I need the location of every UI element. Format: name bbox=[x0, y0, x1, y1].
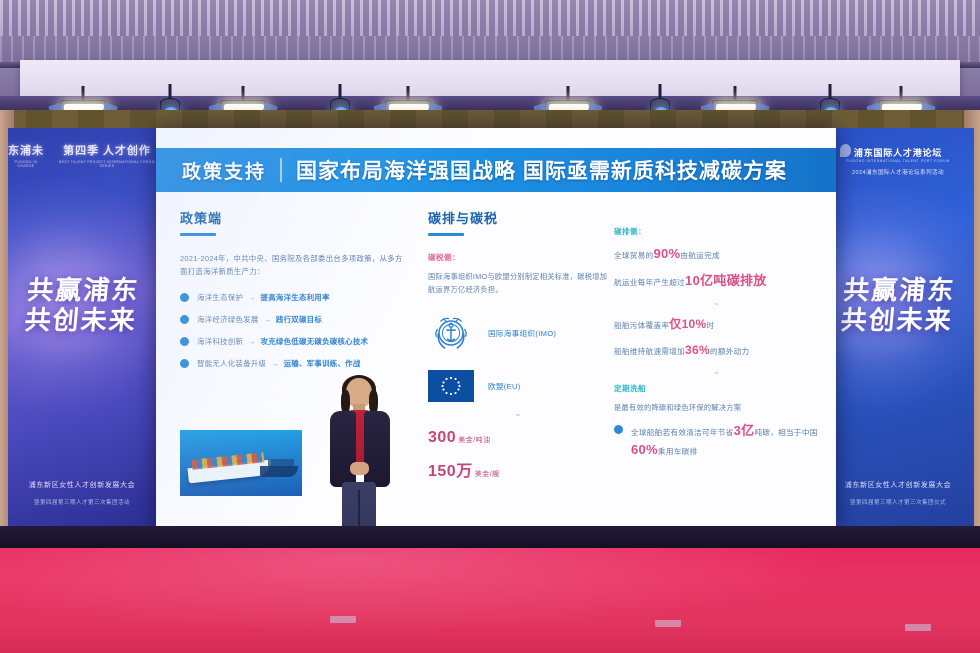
floor-marker bbox=[905, 624, 931, 631]
policy-heading: 政策端 bbox=[180, 208, 410, 227]
carbon-heading-underline bbox=[428, 233, 464, 236]
org-eu-label: 欧盟(EU) bbox=[488, 381, 521, 392]
bullet-dot-icon bbox=[180, 293, 189, 302]
solution-text: 是最有效的降碳和绿色环保的解决方案 bbox=[614, 401, 819, 414]
presentation-screen: 政策支持 国家布局海洋强国战略 国际亟需新质科技减碳方案 政策端 2021-20… bbox=[156, 128, 836, 530]
banner-right: 浦东国际人才港论坛 PUDONG INTERNATIONAL TALENT PO… bbox=[822, 128, 974, 528]
stat-savings: 全球船舶若有效清洁可年节省3亿吨碳，相当于中国60%乘用车碳排 bbox=[614, 422, 819, 460]
speaker-jacket-right bbox=[364, 411, 390, 487]
arrow-icon: → bbox=[248, 293, 255, 302]
banner-right-footer-2: 暨第四届第三期人才第三次集团仪式 bbox=[822, 498, 974, 506]
emit-side-label: 碳排侧： bbox=[614, 226, 819, 237]
bullet-dot-icon bbox=[180, 315, 189, 324]
floor-marker bbox=[330, 616, 356, 623]
banner-right-footer-1: 浦东新区女性人才创新发展大会 bbox=[822, 480, 974, 490]
list-item: 海洋经济绿色发展 → 践行双碳目标 bbox=[180, 314, 410, 325]
chevron-down-icon: ⌄ bbox=[614, 297, 819, 308]
arrow-icon: → bbox=[248, 337, 255, 346]
stage-floor bbox=[0, 548, 980, 653]
org-imo-label: 国际海事组织(IMO) bbox=[488, 328, 556, 339]
slide-title: 国家布局海洋强国战略 国际亟需新质科技减碳方案 bbox=[296, 155, 787, 185]
carbon-column: 碳排与碳税 碳税侧： 国际海事组织IMO与欧盟分别制定相关标准，碳税增加航运界万… bbox=[428, 208, 608, 481]
list-item: 海洋生态保护 → 提高海洋生态利用率 bbox=[180, 292, 410, 303]
carbon-heading: 碳排与碳税 bbox=[428, 208, 608, 227]
chevron-down-icon: ⌄ bbox=[428, 408, 608, 419]
policy-heading-underline bbox=[180, 233, 216, 236]
banner-left: 东浦未 PUDONG IN CHARGE 第四季 人才创作 BEST TALEN… bbox=[8, 128, 156, 528]
policy-paragraph: 2021-2024年，中共中央、国务院及各部委出台多项政策，从多方面打造海洋新质… bbox=[180, 252, 410, 278]
chevron-down-icon: ⌄ bbox=[614, 366, 819, 377]
price-per-vessel: 150万美金/艘 bbox=[428, 457, 608, 481]
arrow-icon: → bbox=[271, 359, 278, 368]
header-divider bbox=[280, 158, 282, 182]
stat-fouling-coverage: 船舶污体覆盖率仅10%时 bbox=[614, 316, 819, 334]
ceiling-truss-upper bbox=[0, 0, 980, 36]
org-eu: 欧盟(EU) bbox=[428, 370, 608, 402]
arrow-icon: → bbox=[264, 315, 271, 324]
eu-flag-icon bbox=[428, 370, 474, 402]
bullet-dot-icon bbox=[180, 337, 189, 346]
conference-hall-scene: 东浦未 PUDONG IN CHARGE 第四季 人才创作 BEST TALEN… bbox=[0, 0, 980, 653]
banner-right-forum-subtitle: 2024浦东国际人才港论坛系列活动 bbox=[822, 168, 974, 176]
bullet-dot-icon bbox=[180, 359, 189, 368]
list-item: 海洋科技创新 → 攻克绿色低碳无碳负碳核心技术 bbox=[180, 336, 410, 347]
banner-right-forum-title: 浦东国际人才港论坛 bbox=[822, 146, 974, 159]
banner-right-slogan: 共赢浦东 共创未来 bbox=[822, 276, 974, 336]
policy-bullet-list: 海洋生态保护 → 提高海洋生态利用率 海洋经济绿色发展 → 践行双碳目标 海洋科… bbox=[180, 292, 410, 369]
solution-heading: 定期洗船 bbox=[614, 383, 819, 394]
logo-talent-season: 第四季 人才创作 BEST TALENT PROJECT INTERNATION… bbox=[58, 142, 156, 168]
ceiling-truss-lower bbox=[0, 36, 980, 62]
slide-body: 政策端 2021-2024年，中共中央、国务院及各部委出台多项政策，从多方面打造… bbox=[156, 198, 836, 530]
banner-left-slogan: 共赢浦东 共创未来 bbox=[8, 276, 156, 336]
emission-column: 碳排侧： 全球贸易的90%由航运完成 航运业每年产生超过10亿吨碳排放 ⌄ 船舶… bbox=[614, 208, 819, 460]
ship-secondary-hull bbox=[260, 466, 298, 477]
banner-right-forum-title-en: PUDONG INTERNATIONAL TALENT PORT FORUM bbox=[822, 159, 974, 163]
stage-edge bbox=[0, 526, 980, 550]
slide-kicker: 政策支持 bbox=[156, 157, 266, 184]
tax-side-label: 碳税侧： bbox=[428, 252, 608, 263]
stat-extra-power: 船舶维持航速需增加36%的额外动力 bbox=[614, 342, 819, 360]
logo-pudong: 东浦未 PUDONG IN CHARGE bbox=[8, 142, 44, 168]
banner-left-footer-2: 暨第四届第三期人才第三次集团活动 bbox=[8, 498, 156, 506]
speaker-hands bbox=[350, 462, 369, 475]
slide-header-bar: 政策支持 国家布局海洋强国战略 国际亟需新质科技减碳方案 bbox=[156, 148, 836, 192]
speaker-jacket-left bbox=[330, 411, 356, 487]
banner-left-logos: 东浦未 PUDONG IN CHARGE 第四季 人才创作 BEST TALEN… bbox=[8, 142, 156, 168]
floor-marker bbox=[655, 620, 681, 627]
container-ship-image bbox=[180, 430, 302, 496]
bullet-dot-icon bbox=[614, 425, 623, 434]
price-per-ton: 300美金/吨油 bbox=[428, 429, 608, 447]
stat-annual-emissions: 航运业每年产生超过10亿吨碳排放 bbox=[614, 272, 819, 291]
policy-column: 政策端 2021-2024年，中共中央、国务院及各部委出台多项政策，从多方面打造… bbox=[180, 208, 410, 380]
banner-left-footer-1: 浦东新区女性人才创新发展大会 bbox=[8, 480, 156, 490]
imo-emblem-icon bbox=[428, 310, 474, 356]
stat-global-trade: 全球贸易的90%由航运完成 bbox=[614, 245, 819, 264]
list-item: 智能无人化装备升级 → 运输、军事训练、作战 bbox=[180, 358, 410, 369]
org-imo: 国际海事组织(IMO) bbox=[428, 310, 608, 356]
tax-side-text: 国际海事组织IMO与欧盟分别制定相关标准，碳税增加航运界万亿经济负担。 bbox=[428, 270, 608, 296]
